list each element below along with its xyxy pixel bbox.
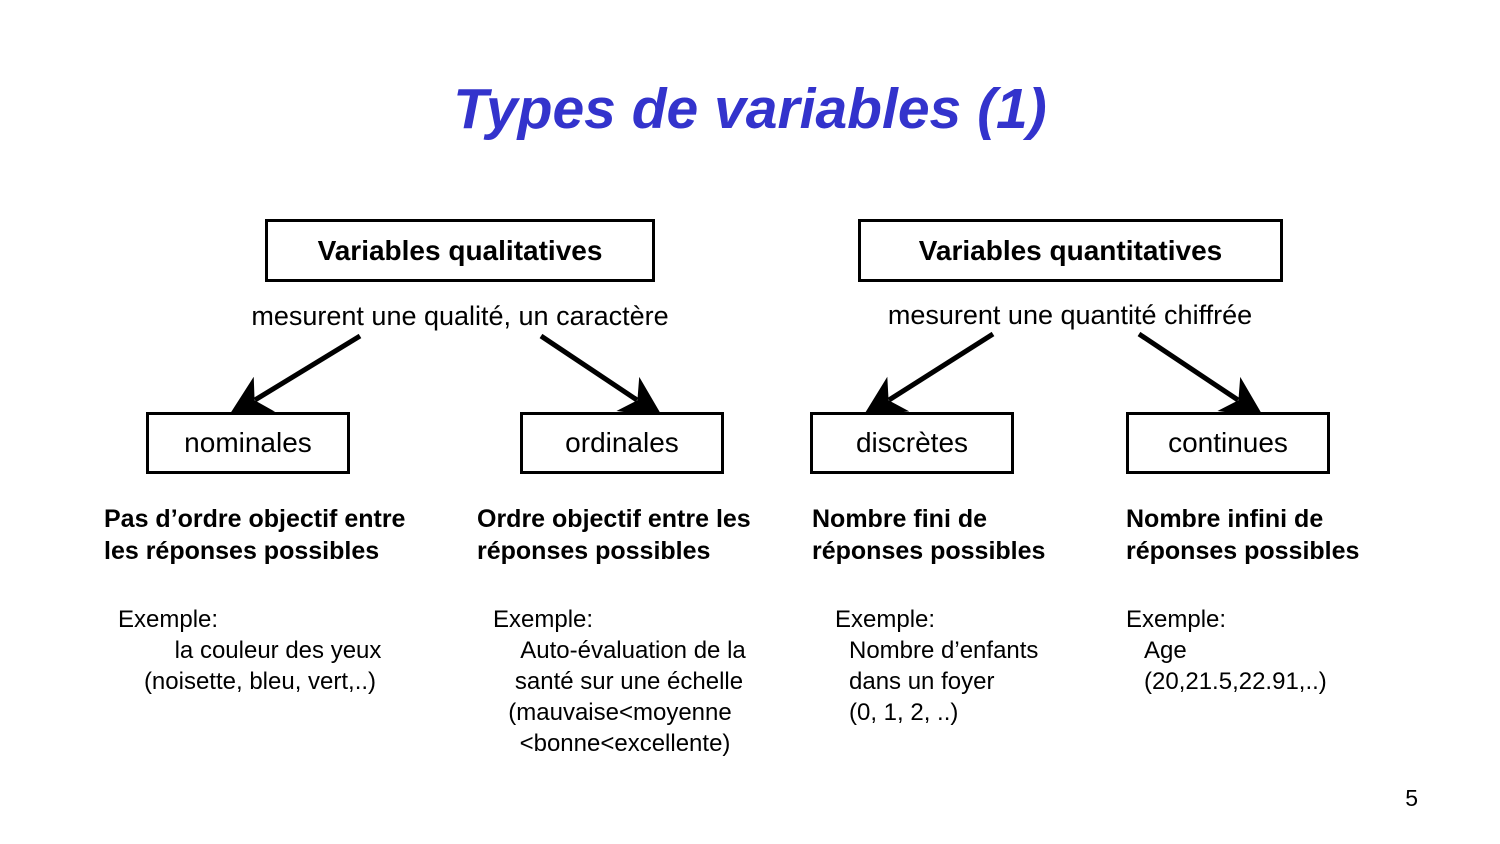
arrow-quantitatives-to-continues	[1139, 334, 1238, 400]
description-continues: Nombre infini de réponses possibles	[1126, 504, 1396, 568]
example-line: (20,21.5,22.91,..)	[1144, 667, 1406, 698]
arrow-quantitatives-to-discretes	[889, 334, 993, 400]
slide-canvas: Types de variables (1) Variables qualita…	[0, 0, 1500, 844]
example-line: Nombre d’enfants	[849, 636, 1095, 667]
node-box-continues[interactable]: continues	[1126, 412, 1330, 474]
arrow-qualitatives-to-nominales	[255, 336, 360, 400]
example-nominales: Exemple: la couleur des yeux (noisette, …	[100, 605, 420, 698]
node-box-label: Variables qualitatives	[318, 235, 603, 267]
example-line: la couleur des yeux	[136, 636, 420, 667]
example-line: (noisette, bleu, vert,..)	[100, 667, 420, 698]
example-line: (mauvaise<moyenne	[460, 698, 780, 729]
node-box-label: ordinales	[565, 427, 679, 459]
branch-caption-quantitatives: mesurent une quantité chiffrée	[840, 300, 1300, 331]
example-line: santé sur une échelle	[478, 667, 780, 698]
example-discretes: Exemple: Nombre d’enfants dans un foyer …	[835, 605, 1095, 729]
example-heading: Exemple:	[118, 605, 420, 636]
description-nominales: Pas d’ordre objectif entre les réponses …	[104, 504, 434, 568]
node-box-label: continues	[1168, 427, 1288, 459]
description-line: réponses possibles	[477, 536, 787, 568]
example-line: <bonne<excellente)	[470, 729, 780, 760]
node-box-ordinales[interactable]: ordinales	[520, 412, 724, 474]
example-heading: Exemple:	[1126, 605, 1406, 636]
description-ordinales: Ordre objectif entre les réponses possib…	[477, 504, 787, 568]
example-heading: Exemple:	[493, 605, 780, 636]
page-number: 5	[1405, 785, 1418, 812]
branch-caption-qualitatives: mesurent une qualité, un caractère	[200, 301, 720, 332]
description-line: Pas d’ordre objectif entre	[104, 504, 434, 536]
description-line: Ordre objectif entre les	[477, 504, 787, 536]
example-ordinales: Exemple: Auto-évaluation de la santé sur…	[460, 605, 780, 760]
description-line: réponses possibles	[1126, 536, 1396, 568]
node-box-label: Variables quantitatives	[919, 235, 1222, 267]
arrow-qualitatives-to-ordinales	[541, 336, 637, 400]
node-box-label: discrètes	[856, 427, 968, 459]
node-box-variables-quantitatives[interactable]: Variables quantitatives	[858, 219, 1283, 282]
example-line: Age	[1144, 636, 1406, 667]
node-box-nominales[interactable]: nominales	[146, 412, 350, 474]
description-line: les réponses possibles	[104, 536, 434, 568]
example-line: Auto-évaluation de la	[486, 636, 780, 667]
description-line: Nombre infini de	[1126, 504, 1396, 536]
example-line: (0, 1, 2, ..)	[849, 698, 1095, 729]
description-discretes: Nombre fini de réponses possibles	[812, 504, 1062, 568]
example-continues: Exemple: Age (20,21.5,22.91,..)	[1126, 605, 1406, 698]
description-line: Nombre fini de	[812, 504, 1062, 536]
page-title: Types de variables (1)	[0, 76, 1500, 142]
example-heading: Exemple:	[835, 605, 1095, 636]
example-line: dans un foyer	[849, 667, 1095, 698]
node-box-discretes[interactable]: discrètes	[810, 412, 1014, 474]
description-line: réponses possibles	[812, 536, 1062, 568]
node-box-label: nominales	[184, 427, 312, 459]
node-box-variables-qualitatives[interactable]: Variables qualitatives	[265, 219, 655, 282]
